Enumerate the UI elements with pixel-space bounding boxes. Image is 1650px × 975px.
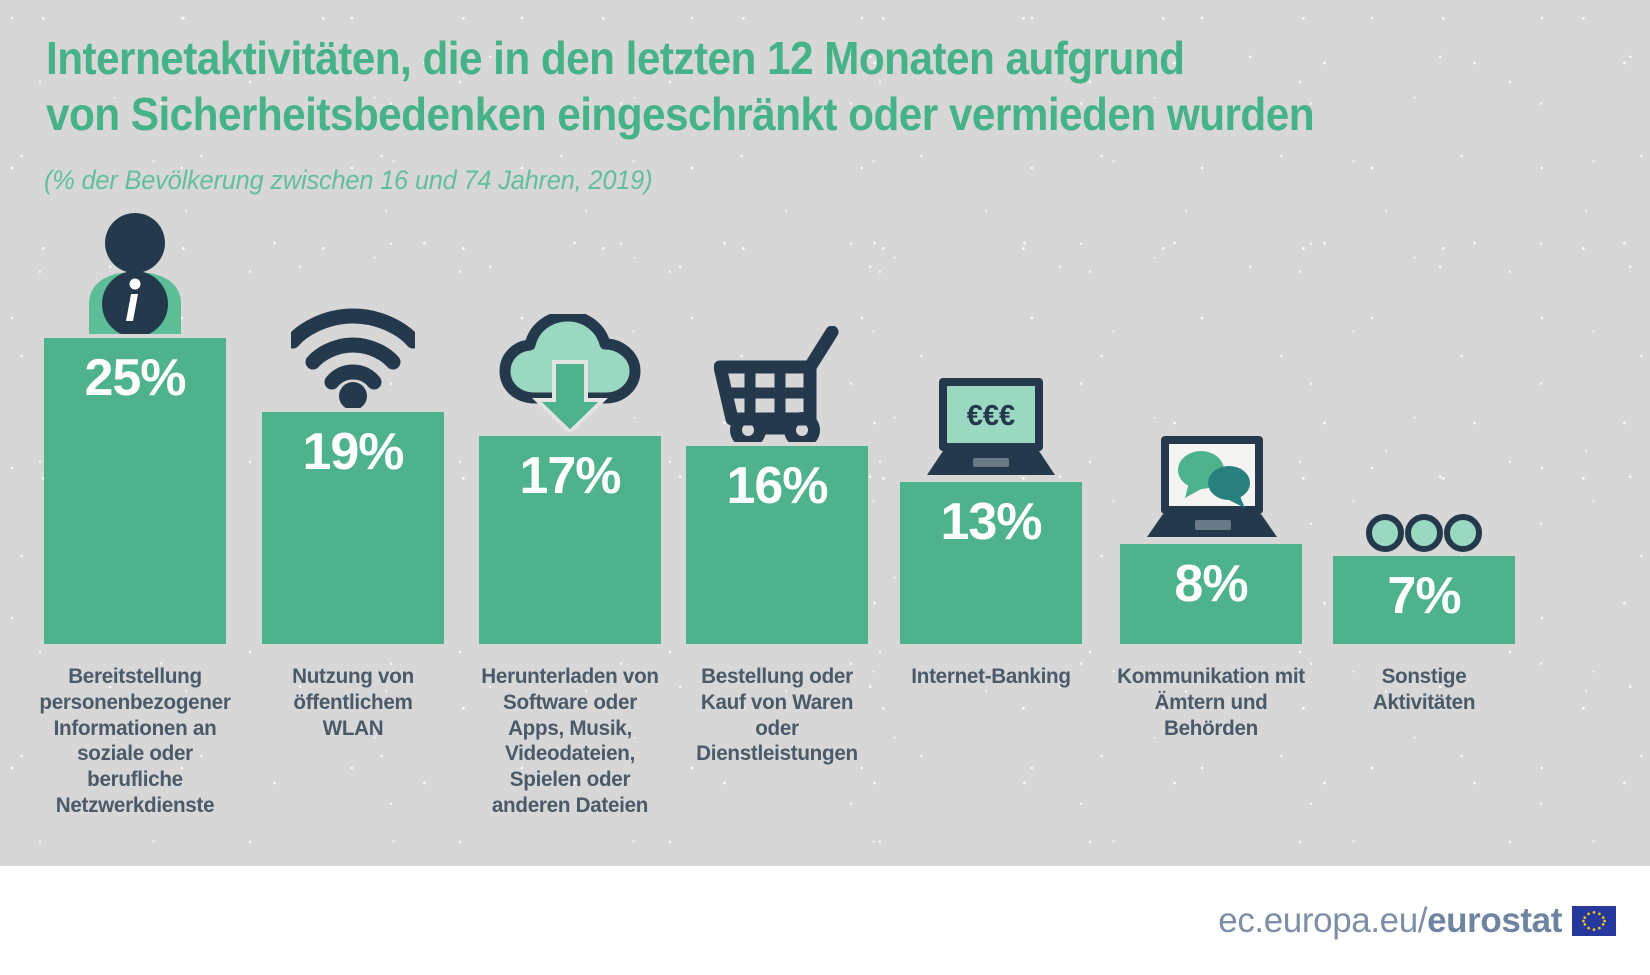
cloud-download-icon [499,314,641,432]
bar-label-6: Kommunikation mit Ämtern und Behörden [1110,664,1312,741]
infographic-root: Internetaktivitäten, die in den letzten … [0,0,1650,975]
footer-url-brand: eurostat [1427,901,1562,940]
bar-label-4: Bestellung oder Kauf von Waren oder Dien… [676,664,878,767]
wifi-icon [291,300,415,408]
bar-chart: 25% Bereitstellung personenbezogener Inf… [0,0,1650,866]
icon-slot-7 [1333,512,1515,556]
footer-bar: ec.europa.eu/eurostat [0,866,1650,975]
bar-column-5[interactable]: €€€ 13% Internet-Banking [900,482,1082,644]
bar-value-5: 13% [900,496,1082,548]
bar-label-2: Nutzung von öffentlichem WLAN [252,664,454,741]
bar-value-7: 7% [1333,570,1515,622]
bar-value-4: 16% [686,460,868,512]
shopping-cart-icon [714,326,840,442]
icon-slot-5: €€€ [900,376,1082,482]
bar-label-3: Herunterladen von Software oder Apps, Mu… [469,664,671,819]
footer-url[interactable]: ec.europa.eu/eurostat [1218,901,1562,941]
footer-url-plain: ec.europa.eu/ [1218,901,1427,940]
laptop-euro-icon: €€€ [915,376,1067,478]
three-dots-icon [1364,512,1484,552]
bar-value-2: 19% [262,426,444,478]
bar-value-3: 17% [479,450,661,502]
svg-text:€€€: €€€ [967,400,1015,432]
icon-slot-4 [686,326,868,446]
bar-column-2[interactable]: 19% Nutzung von öffentlichem WLAN [262,412,444,644]
bar-value-6: 8% [1120,558,1302,610]
icon-slot-1 [44,212,226,338]
icon-slot-6 [1120,434,1302,544]
bar-column-4[interactable]: 16% Bestellung oder Kauf von Waren oder … [686,446,868,644]
bar-label-5: Internet-Banking [890,664,1092,690]
laptop-chat-icon [1135,434,1287,540]
person-info-icon [75,212,195,334]
bar-column-3[interactable]: 17% Herunterladen von Software oder Apps… [479,436,661,644]
icon-slot-3 [479,314,661,436]
bar-value-1: 25% [44,352,226,404]
bar-label-7: Sonstige Aktivitäten [1323,664,1525,716]
bar-label-1: Bereitstellung personenbezogener Informa… [34,664,236,819]
icon-slot-2 [262,300,444,412]
eu-flag-icon [1572,906,1616,936]
bar-column-7[interactable]: 7% Sonstige Aktivitäten [1333,556,1515,644]
bar-column-1[interactable]: 25% Bereitstellung personenbezogener Inf… [44,338,226,644]
bar-column-6[interactable]: 8% Kommunikation mit Ämtern und Behörden [1120,544,1302,644]
